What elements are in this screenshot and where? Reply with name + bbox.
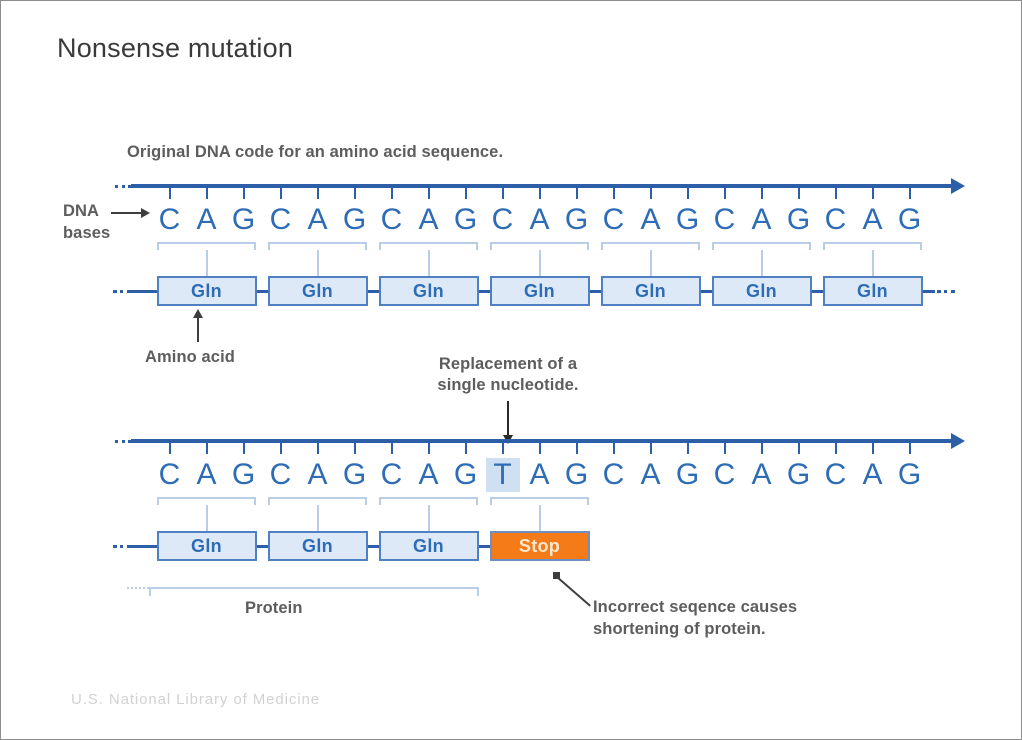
backbone-tick	[465, 188, 467, 199]
codon-connector	[428, 505, 430, 531]
codon-connector	[206, 505, 208, 531]
dna-base: A	[412, 203, 446, 237]
dna-base: A	[634, 203, 668, 237]
codon-bracket	[601, 242, 700, 250]
amino-acid-box: Gln	[157, 276, 257, 306]
peptide-bond-connector	[590, 290, 601, 293]
dna-base: A	[523, 458, 557, 492]
protein-bracket-lead	[127, 587, 149, 589]
peptide-bond-connector	[368, 290, 379, 293]
dna-base: G	[560, 458, 594, 492]
protein-bracket	[149, 587, 479, 596]
dna-base: C	[597, 203, 631, 237]
dna-base: G	[782, 458, 816, 492]
backbone-tick	[243, 188, 245, 199]
backbone-left-continuation	[115, 440, 131, 443]
codon-connector	[539, 505, 541, 531]
amino-acid-box: Gln	[157, 531, 257, 561]
protein-left-connector	[131, 545, 157, 548]
backbone-tick	[909, 188, 911, 199]
dna-base: C	[708, 203, 742, 237]
codon-bracket	[490, 497, 589, 505]
protein-left-continuation-dots	[113, 545, 131, 548]
dna-base: G	[338, 203, 372, 237]
incorrect-sequence-label-line2: shortening of protein.	[593, 619, 766, 640]
backbone-tick	[206, 188, 208, 199]
codon-bracket	[712, 242, 811, 250]
dna-base: G	[671, 458, 705, 492]
backbone-tick	[613, 188, 615, 199]
backbone-tick	[243, 443, 245, 454]
codon-bracket	[823, 242, 922, 250]
amino-acid-box: Gln	[379, 276, 479, 306]
incorrect-sequence-pointer-arrowhead	[553, 572, 560, 579]
caption-original-dna: Original DNA code for an amino acid sequ…	[127, 142, 503, 163]
peptide-bond-connector	[479, 545, 490, 548]
dna-base: C	[597, 458, 631, 492]
dna-base: G	[893, 203, 927, 237]
dna-bases-pointer-arrowhead	[141, 208, 150, 218]
dna-base: C	[153, 203, 187, 237]
backbone-tick	[761, 443, 763, 454]
amino-acid-box: Gln	[268, 276, 368, 306]
amino-acid-box: Gln	[601, 276, 701, 306]
backbone-tick	[835, 188, 837, 199]
dna-base: A	[745, 458, 779, 492]
backbone-tick	[687, 188, 689, 199]
codon-connector	[317, 250, 319, 276]
stop-codon-box: Stop	[490, 531, 590, 561]
protein-right-connector	[923, 290, 935, 293]
backbone-tick	[280, 188, 282, 199]
codon-connector	[539, 250, 541, 276]
codon-connector	[206, 250, 208, 276]
peptide-bond-connector	[257, 290, 268, 293]
protein-left-connector	[131, 290, 157, 293]
backbone-tick	[798, 188, 800, 199]
backbone-tick	[613, 443, 615, 454]
backbone-tick	[391, 443, 393, 454]
dna-base: A	[523, 203, 557, 237]
replacement-pointer-line	[507, 401, 509, 437]
dna-base: C	[264, 458, 298, 492]
protein-right-continuation-dots	[937, 290, 955, 293]
peptide-bond-connector	[701, 290, 712, 293]
dna-base: A	[190, 458, 224, 492]
amino-acid-pointer-arrowhead	[193, 309, 203, 318]
peptide-bond-connector	[368, 545, 379, 548]
backbone-tick	[317, 188, 319, 199]
amino-acid-box: Gln	[823, 276, 923, 306]
codon-connector	[650, 250, 652, 276]
dna-base: G	[338, 458, 372, 492]
codon-bracket	[268, 497, 367, 505]
amino-acid-box: Gln	[379, 531, 479, 561]
backbone-tick	[428, 443, 430, 454]
dna-base: A	[412, 458, 446, 492]
backbone-tick	[354, 188, 356, 199]
codon-connector	[428, 250, 430, 276]
codon-connector	[872, 250, 874, 276]
dna-base: A	[856, 458, 890, 492]
dna-base: A	[634, 458, 668, 492]
dna-base: A	[856, 203, 890, 237]
backbone-tick	[576, 443, 578, 454]
dna-base: G	[560, 203, 594, 237]
slide-frame: Nonsense mutation Original DNA code for …	[0, 0, 1022, 740]
dna-base: C	[819, 203, 853, 237]
dna-base: C	[375, 203, 409, 237]
dna-base: C	[153, 458, 187, 492]
dna-base: C	[819, 458, 853, 492]
backbone-tick	[465, 443, 467, 454]
dna-base: C	[486, 203, 520, 237]
dna-base: A	[190, 203, 224, 237]
backbone-tick	[872, 443, 874, 454]
amino-acid-box: Gln	[490, 276, 590, 306]
backbone-tick	[280, 443, 282, 454]
replacement-label-line1: Replacement of a	[403, 354, 613, 375]
dna-backbone	[131, 184, 952, 188]
peptide-bond-connector	[479, 290, 490, 293]
backbone-tick	[539, 443, 541, 454]
codon-connector	[317, 505, 319, 531]
dna-base: G	[893, 458, 927, 492]
dna-base: G	[782, 203, 816, 237]
mutated-base: T	[486, 458, 520, 492]
codon-bracket	[157, 242, 256, 250]
backbone-tick	[687, 443, 689, 454]
dna-bases-label-line1: DNA	[63, 201, 99, 222]
codon-connector	[761, 250, 763, 276]
backbone-tick	[724, 443, 726, 454]
peptide-bond-connector	[257, 545, 268, 548]
backbone-tick	[391, 188, 393, 199]
incorrect-sequence-pointer-line	[556, 576, 591, 606]
dna-base: A	[301, 458, 335, 492]
backbone-tick	[761, 188, 763, 199]
dna-base: G	[449, 458, 483, 492]
backbone-tick	[576, 188, 578, 199]
dna-base: C	[708, 458, 742, 492]
backbone-tick	[502, 188, 504, 199]
amino-acid-box: Gln	[268, 531, 368, 561]
codon-bracket	[379, 242, 478, 250]
dna-bases-label-line2: bases	[63, 223, 110, 244]
backbone-tick	[650, 443, 652, 454]
backbone-tick	[872, 188, 874, 199]
incorrect-sequence-label-line1: Incorrect seqence causes	[593, 597, 797, 618]
replacement-label-line2: single nucleotide.	[403, 375, 613, 396]
dna-base: G	[227, 458, 261, 492]
dna-bases-pointer-line	[111, 212, 141, 214]
backbone-tick	[206, 443, 208, 454]
backbone-tick	[909, 443, 911, 454]
codon-bracket	[379, 497, 478, 505]
backbone-tick	[354, 443, 356, 454]
backbone-tick	[539, 188, 541, 199]
amino-acid-box: Gln	[712, 276, 812, 306]
protein-left-continuation-dots	[113, 290, 131, 293]
dna-base: C	[375, 458, 409, 492]
dna-backbone	[131, 439, 952, 443]
dna-base: G	[449, 203, 483, 237]
codon-bracket	[490, 242, 589, 250]
codon-bracket	[157, 497, 256, 505]
backbone-tick	[428, 188, 430, 199]
peptide-bond-connector	[812, 290, 823, 293]
dna-base: G	[671, 203, 705, 237]
codon-bracket	[268, 242, 367, 250]
dna-base: G	[227, 203, 261, 237]
page-title: Nonsense mutation	[57, 33, 293, 64]
dna-base: C	[264, 203, 298, 237]
backbone-tick	[724, 188, 726, 199]
backbone-left-continuation	[115, 185, 131, 188]
slide-canvas: Nonsense mutation Original DNA code for …	[9, 9, 1011, 729]
dna-base: A	[745, 203, 779, 237]
dna-base: A	[301, 203, 335, 237]
backbone-tick	[835, 443, 837, 454]
backbone-tick	[169, 443, 171, 454]
backbone-tick	[317, 443, 319, 454]
source-attribution: U.S. National Library of Medicine	[71, 691, 320, 708]
amino-acid-label: Amino acid	[145, 347, 235, 368]
backbone-tick	[502, 443, 504, 454]
backbone-tick	[650, 188, 652, 199]
backbone-tick	[798, 443, 800, 454]
backbone-tick	[169, 188, 171, 199]
protein-label: Protein	[245, 598, 303, 619]
amino-acid-pointer-line	[197, 316, 199, 342]
